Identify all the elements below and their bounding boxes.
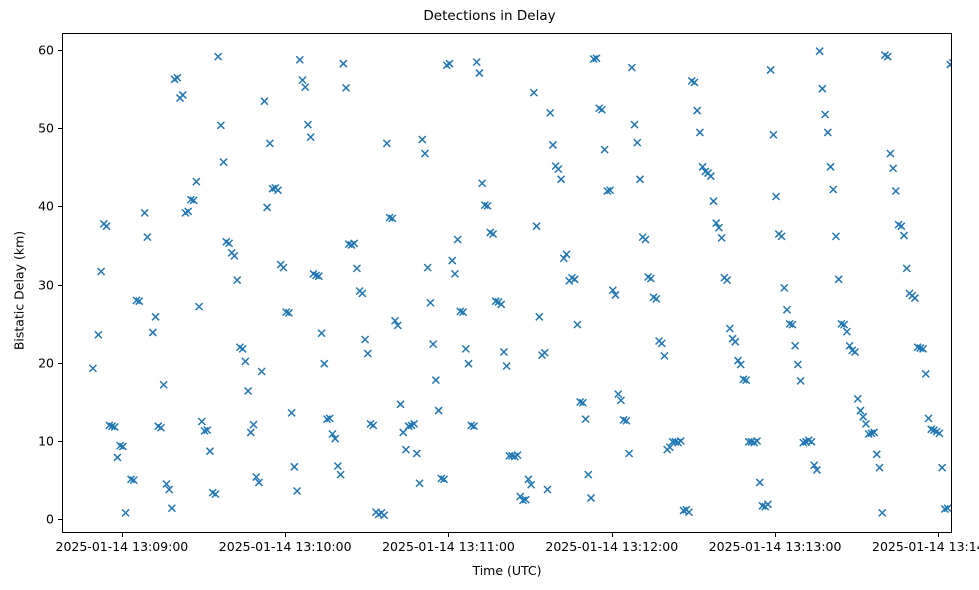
x-tick-mark <box>448 533 449 537</box>
y-tick-label: 40 <box>8 199 54 214</box>
scatter-series <box>63 34 952 533</box>
y-tick-label: 50 <box>8 121 54 136</box>
y-tick-label: 30 <box>8 277 54 292</box>
y-tick-label: 10 <box>8 433 54 448</box>
x-tick-mark <box>938 533 939 537</box>
x-tick-label: 2025-01-14 13:14:00 <box>872 539 979 554</box>
plot-area[interactable] <box>62 33 952 533</box>
x-tick-label: 2025-01-14 13:12:00 <box>545 539 678 554</box>
y-tick-label: 20 <box>8 355 54 370</box>
x-axis-label: Time (UTC) <box>62 563 952 578</box>
x-tick-label: 2025-01-14 13:11:00 <box>382 539 515 554</box>
chart-title: Detections in Delay <box>0 8 979 24</box>
x-tick-label: 2025-01-14 13:10:00 <box>219 539 352 554</box>
y-tick-label: 0 <box>8 511 54 526</box>
chart-figure: Detections in Delay Bistatic Delay (km) … <box>0 0 979 590</box>
x-tick-mark <box>285 533 286 537</box>
x-tick-mark <box>122 533 123 537</box>
x-tick-mark <box>775 533 776 537</box>
x-tick-label: 2025-01-14 13:09:00 <box>55 539 188 554</box>
y-tick-label: 60 <box>8 43 54 58</box>
x-tick-label: 2025-01-14 13:13:00 <box>709 539 842 554</box>
x-tick-mark <box>612 533 613 537</box>
